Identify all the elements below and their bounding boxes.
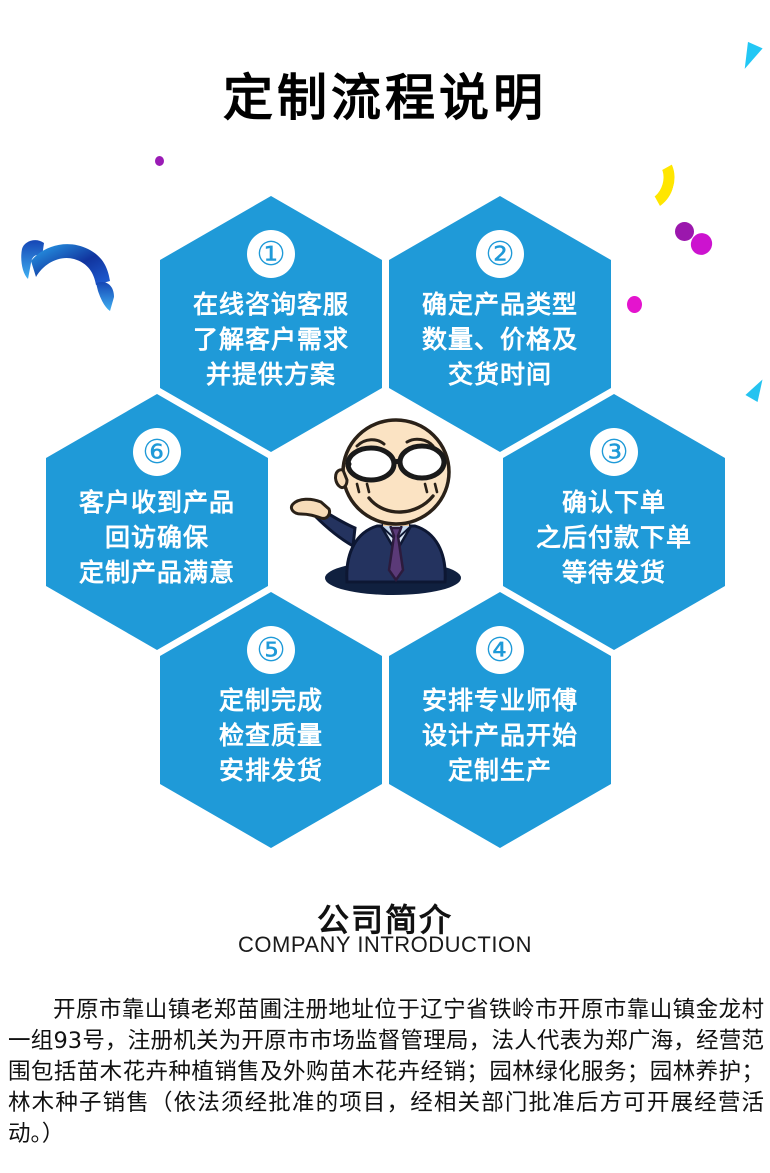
step-line: 定制产品满意 [46, 556, 268, 591]
process-step-5[interactable]: ⑤ 定制完成 检查质量 安排发货 [160, 592, 382, 848]
step-line: 并提供方案 [160, 358, 382, 393]
step-line: 设计产品开始 [389, 719, 611, 754]
step-number-badge: ⑤ [247, 626, 295, 674]
cyan-triangle-top-right-icon [737, 42, 762, 72]
step-number-badge: ④ [476, 626, 524, 674]
purple-dot-small-decoration [155, 156, 164, 166]
step-number-badge: ② [476, 230, 524, 278]
step-line: 客户收到产品 [46, 486, 268, 521]
step-line: 数量、价格及 [389, 323, 611, 358]
step-text: 确认下单 之后付款下单 等待发货 [503, 486, 725, 591]
step-line: 之后付款下单 [503, 521, 725, 556]
step-number-badge: ③ [590, 428, 638, 476]
step-line: 定制完成 [160, 684, 382, 719]
process-step-6[interactable]: ⑥ 客户收到产品 回访确保 定制产品满意 [46, 394, 268, 650]
step-line: 定制生产 [389, 754, 611, 789]
company-heading-en: COMPANY INTRODUCTION [0, 932, 770, 958]
process-step-4[interactable]: ④ 安排专业师傅 设计产品开始 定制生产 [389, 592, 611, 848]
step-line: 在线咨询客服 [160, 288, 382, 323]
process-step-3[interactable]: ③ 确认下单 之后付款下单 等待发货 [503, 394, 725, 650]
step-line: 安排专业师傅 [389, 684, 611, 719]
step-line: 确认下单 [503, 486, 725, 521]
step-line: 确定产品类型 [389, 288, 611, 323]
step-text: 客户收到产品 回访确保 定制产品满意 [46, 486, 268, 591]
page-root: 定制流程说明 ① 在线咨询客服 了解客户需求 [0, 0, 770, 1173]
step-text: 安排专业师傅 设计产品开始 定制生产 [389, 684, 611, 789]
step-number-badge: ① [247, 230, 295, 278]
step-text: 确定产品类型 数量、价格及 交货时间 [389, 288, 611, 393]
step-text: 在线咨询客服 了解客户需求 并提供方案 [160, 288, 382, 393]
page-title: 定制流程说明 [0, 72, 770, 125]
company-intro-body: 开原市靠山镇老郑苗圃注册地址位于辽宁省铁岭市开原市靠山镇金龙村一组93号，注册机… [8, 995, 764, 1150]
step-line: 检查质量 [160, 719, 382, 754]
step-line: 了解客户需求 [160, 323, 382, 358]
businessman-mascot-illustration [285, 410, 490, 595]
step-text: 定制完成 检查质量 安排发货 [160, 684, 382, 789]
step-line: 交货时间 [389, 358, 611, 393]
step-line: 回访确保 [46, 521, 268, 556]
step-line: 等待发货 [503, 556, 725, 591]
step-line: 安排发货 [160, 754, 382, 789]
step-number-badge: ⑥ [133, 428, 181, 476]
